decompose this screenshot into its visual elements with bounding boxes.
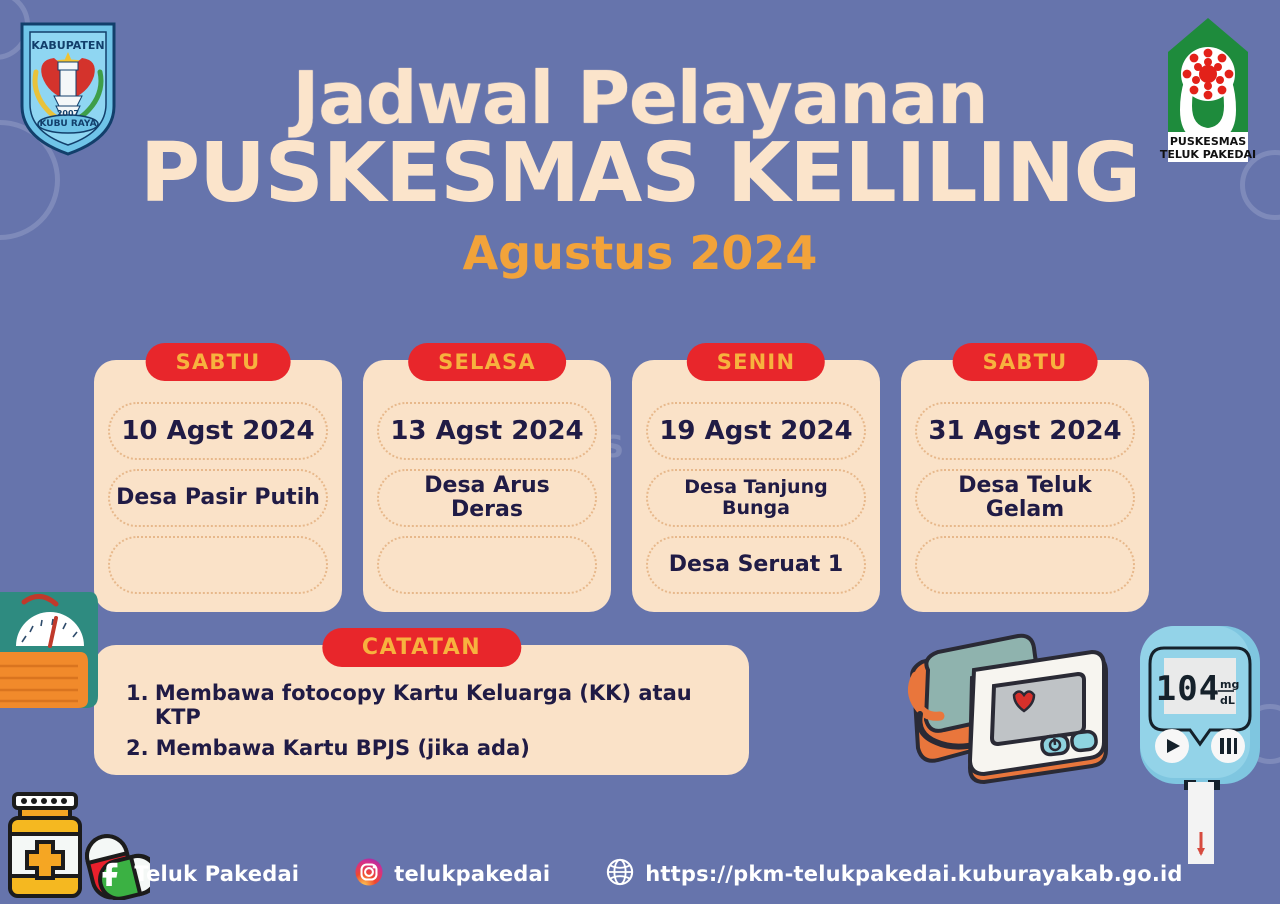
glucometer-unit-top: mg — [1220, 678, 1239, 691]
day-badge: SABTU — [953, 343, 1098, 381]
schedule-card-list: SABTU 10 Agst 2024 Desa Pasir Putih SELA… — [94, 360, 1186, 612]
note-number: 2. — [126, 736, 149, 760]
poster-root: PUSKESMAS KABUPATEN KUBU RAYA 2007 — [0, 0, 1280, 904]
schedule-card: SELASA 13 Agst 2024 Desa Arus Deras — [363, 360, 611, 612]
facebook-contact[interactable]: Teluk Pakedai — [97, 858, 299, 890]
globe-icon — [606, 858, 634, 890]
note-text: Membawa Kartu BPJS (jika ada) — [156, 736, 530, 760]
date-slot: 13 Agst 2024 — [377, 402, 597, 460]
title-line-1: Jadwal Pelayanan — [0, 62, 1280, 135]
instagram-icon — [355, 858, 383, 890]
note-number: 1. — [126, 681, 148, 729]
blood-pressure-monitor-icon — [898, 618, 1114, 800]
facebook-icon — [97, 858, 123, 890]
place-slot: Desa Seruat 1 — [646, 536, 866, 594]
note-item: 1. Membawa fotocopy Kartu Keluarga (KK) … — [126, 681, 725, 729]
day-badge: SELASA — [408, 343, 566, 381]
instagram-label: telukpakedai — [394, 862, 550, 886]
place-slot: Desa Arus Deras — [377, 469, 597, 527]
title-line-2: PUSKESMAS KELILING — [0, 131, 1280, 217]
schedule-card: SABTU 31 Agst 2024 Desa Teluk Gelam — [901, 360, 1149, 612]
website-contact[interactable]: https://pkm-telukpakedai.kuburayakab.go.… — [606, 858, 1182, 890]
date-slot: 31 Agst 2024 — [915, 402, 1135, 460]
instagram-contact[interactable]: telukpakedai — [355, 858, 550, 890]
place-slot: Desa Tanjung Bunga — [646, 469, 866, 527]
notes-title-badge: CATATAN — [322, 628, 521, 667]
schedule-card: SABTU 10 Agst 2024 Desa Pasir Putih — [94, 360, 342, 612]
glucometer-unit-bottom: dL — [1220, 694, 1235, 707]
glucometer-icon: 104 mg dL — [1126, 620, 1276, 870]
date-slot: 19 Agst 2024 — [646, 402, 866, 460]
place-slot: Desa Teluk Gelam — [915, 469, 1135, 527]
title-month: Agustus 2024 — [0, 226, 1280, 280]
glucometer-reading: 104 — [1156, 669, 1220, 709]
website-label: https://pkm-telukpakedai.kuburayakab.go.… — [645, 862, 1182, 886]
place-slot: Desa Pasir Putih — [108, 469, 328, 527]
notes-panel: CATATAN 1. Membawa fotocopy Kartu Keluar… — [94, 645, 749, 775]
schedule-card: SENIN 19 Agst 2024 Desa Tanjung Bunga De… — [632, 360, 880, 612]
place-slot-empty — [915, 536, 1135, 594]
date-slot: 10 Agst 2024 — [108, 402, 328, 460]
day-badge: SENIN — [687, 343, 825, 381]
weighing-scale-icon — [0, 584, 102, 709]
facebook-label: Teluk Pakedai — [134, 862, 299, 886]
footer-contacts: Teluk Pakedai — [0, 858, 1280, 890]
day-badge: SABTU — [146, 343, 291, 381]
place-slot-empty — [377, 536, 597, 594]
note-text: Membawa fotocopy Kartu Keluarga (KK) ata… — [155, 681, 725, 729]
poster-title-block: Jadwal Pelayanan PUSKESMAS KELILING Agus… — [0, 62, 1280, 280]
note-item: 2. Membawa Kartu BPJS (jika ada) — [126, 736, 725, 760]
place-slot-empty — [108, 536, 328, 594]
svg-text:KABUPATEN: KABUPATEN — [31, 39, 104, 52]
